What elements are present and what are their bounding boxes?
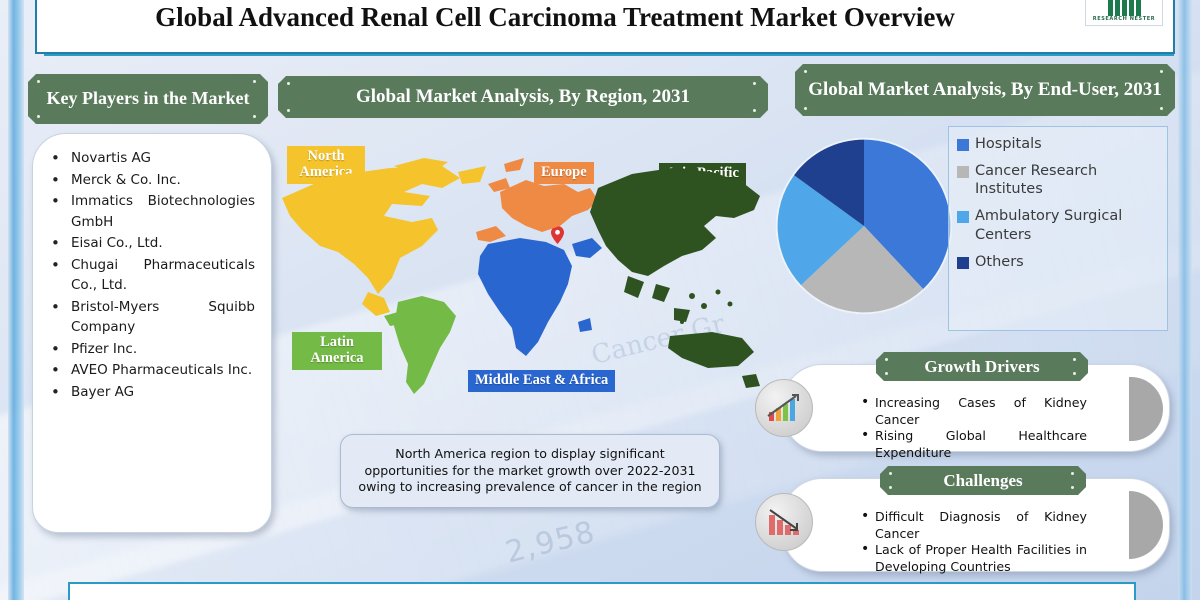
end-user-chart-panel: HospitalsCancer Research InstitutesAmbul… [762, 126, 1168, 342]
page-title: Global Advanced Renal Cell Carcinoma Tre… [135, 3, 1075, 31]
legend-label: Cancer Research Institutes [975, 162, 1163, 198]
list-item: Eisai Co., Ltd. [39, 233, 261, 254]
list-item: Chugai Pharmaceuticals Co., Ltd. [39, 255, 261, 296]
legend-label: Hospitals [975, 135, 1042, 153]
bar-chart-down-icon [755, 493, 813, 551]
region-analysis-heading-label: Global Market Analysis, By Region, 2031 [356, 86, 690, 108]
key-players-card: Novartis AG Merck & Co. Inc. Immatics Bi… [32, 133, 272, 533]
ribbon-dots-left [37, 80, 43, 118]
map-region-asia-pacific [590, 168, 760, 388]
left-accent-rail [8, 0, 24, 600]
ribbon-dots-left [889, 472, 895, 489]
map-region-north-america [282, 158, 486, 316]
ribbon-dots-right [1160, 70, 1166, 110]
region-callout-text: North America region to display signific… [353, 446, 707, 496]
legend-swatch [957, 211, 969, 223]
key-players-heading-label: Key Players in the Market [47, 89, 250, 108]
list-item: Novartis AG [39, 148, 261, 169]
list-item: Bristol-Myers Squibb Company [39, 297, 261, 338]
legend-swatch [957, 139, 969, 151]
list-item: Bayer AG [39, 382, 261, 403]
ribbon-dots-left [287, 82, 293, 112]
map-region-middle-east-africa [478, 238, 602, 356]
key-players-list: Novartis AG Merck & Co. Inc. Immatics Bi… [39, 148, 261, 402]
end-user-pie-chart [774, 136, 954, 316]
legend-label: Ambulatory Surgical Centers [975, 207, 1163, 243]
list-item: Increasing Cases of Kidney Cancer [861, 395, 1087, 428]
list-item: Pfizer Inc. [39, 339, 261, 360]
right-accent-rail [1178, 0, 1192, 600]
map-region-europe [476, 158, 598, 242]
world-map [272, 126, 772, 426]
list-item: Difficult Diagnosis of Kidney Cancer [861, 509, 1087, 542]
map-region-latin-america [384, 296, 456, 394]
ribbon-dots-left [885, 358, 891, 375]
ribbon-dots-right [1073, 358, 1079, 375]
legend-swatch [957, 166, 969, 178]
ribbon-dots-left [804, 70, 810, 110]
end-user-analysis-heading-label: Global Market Analysis, By End-User, 203… [808, 80, 1161, 101]
list-item: Rising Global Healthcare Expenditure [861, 428, 1087, 461]
ribbon-dots-right [253, 80, 259, 118]
logo-name: RESEARCH NESTER [1093, 16, 1155, 22]
region-callout-box: North America region to display signific… [340, 434, 720, 508]
bottom-content-box [68, 582, 1136, 600]
legend-label: Others [975, 253, 1024, 271]
ribbon-dots-right [1071, 472, 1077, 489]
key-players-heading: Key Players in the Market [28, 74, 268, 124]
growth-drivers-heading-label: Growth Drivers [924, 357, 1039, 377]
title-bar: Global Advanced Renal Cell Carcinoma Tre… [35, 0, 1175, 54]
card-half-circle-decor [1129, 491, 1163, 559]
legend-item: Ambulatory Surgical Centers [957, 207, 1163, 243]
end-user-legend: HospitalsCancer Research InstitutesAmbul… [948, 126, 1168, 331]
legend-item: Cancer Research Institutes [957, 162, 1163, 198]
legend-item: Others [957, 253, 1163, 271]
ribbon-dots-right [753, 82, 759, 112]
world-map-svg [272, 126, 772, 426]
legend-list: HospitalsCancer Research InstitutesAmbul… [949, 127, 1167, 271]
challenges-heading: Challenges [880, 466, 1086, 495]
list-item: Merck & Co. Inc. [39, 170, 261, 191]
card-half-circle-decor [1129, 377, 1163, 441]
list-item: Lack of Proper Health Facilities in Deve… [861, 542, 1087, 575]
logo-bars-icon [1108, 0, 1141, 16]
region-analysis-heading: Global Market Analysis, By Region, 2031 [278, 76, 768, 118]
list-item: AVEO Pharmaceuticals Inc. [39, 360, 261, 381]
challenges-heading-label: Challenges [943, 471, 1022, 491]
list-item: Immatics Biotechnologies GmbH [39, 191, 261, 232]
growth-drivers-heading: Growth Drivers [876, 352, 1088, 381]
bar-chart-up-icon [755, 379, 813, 437]
legend-swatch [957, 257, 969, 269]
challenges-list: Difficult Diagnosis of Kidney Cancer Lac… [861, 509, 1087, 575]
legend-item: Hospitals [957, 135, 1163, 153]
research-nester-logo: RESEARCH NESTER [1085, 0, 1163, 26]
growth-drivers-list: Increasing Cases of Kidney Cancer Rising… [861, 395, 1087, 461]
end-user-analysis-heading: Global Market Analysis, By End-User, 203… [795, 64, 1175, 116]
